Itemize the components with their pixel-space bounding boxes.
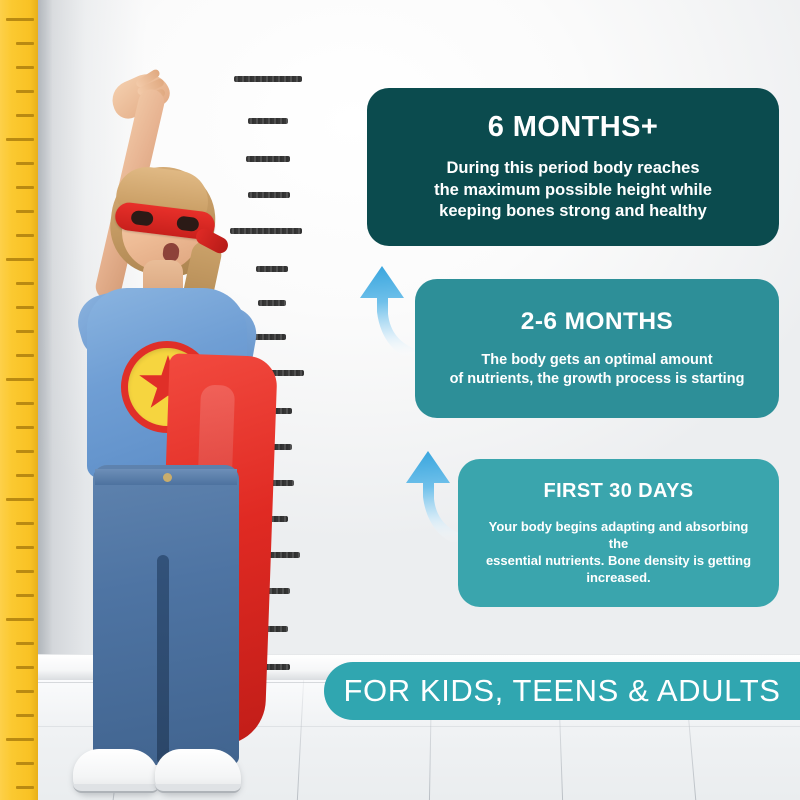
card-body: The body gets an optimal amountof nutrie… (450, 351, 745, 389)
shoe-sole (155, 784, 241, 793)
ruler-minor-tick (16, 714, 34, 717)
card-6-months[interactable]: 6 MONTHS+ During this period body reache… (367, 88, 779, 246)
ruler-minor-tick (16, 90, 34, 93)
ruler-minor-tick (16, 546, 34, 549)
ruler-minor-tick (16, 66, 34, 69)
ruler-minor-tick (16, 786, 34, 789)
card-title: FIRST 30 DAYS (543, 480, 693, 503)
yellow-ruler (0, 0, 38, 800)
ruler-minor-tick (16, 42, 34, 45)
pencil-mark (258, 300, 286, 306)
card-first-30-days[interactable]: FIRST 30 DAYS Your body begins adapting … (458, 459, 779, 607)
shoe-sole (73, 784, 159, 793)
ruler-major-tick (6, 18, 34, 21)
ruler-minor-tick (16, 402, 34, 405)
ruler-major-tick (6, 738, 34, 741)
sneaker-right (155, 749, 241, 793)
ruler-minor-tick (16, 210, 34, 213)
ruler-minor-tick (16, 762, 34, 765)
audience-banner[interactable]: FOR KIDS, TEENS & ADULTS (324, 662, 800, 720)
curved-up-arrow-icon (330, 252, 426, 364)
floor-plank-line (297, 680, 304, 800)
ruler-minor-tick (16, 690, 34, 693)
ruler-minor-tick (16, 642, 34, 645)
ruler-major-tick (6, 378, 34, 381)
ruler-minor-tick (16, 354, 34, 357)
pencil-mark (256, 266, 288, 272)
ruler-minor-tick (16, 594, 34, 597)
ruler-minor-tick (16, 450, 34, 453)
jeans-leg-gap (157, 555, 169, 765)
ruler-minor-tick (16, 234, 34, 237)
ruler-minor-tick (16, 522, 34, 525)
jeans-button (163, 473, 172, 482)
infographic-canvas: 6 MONTHS+ During this period body reache… (0, 0, 800, 800)
ruler-major-tick (6, 258, 34, 261)
sneaker-left (73, 749, 159, 793)
ruler-minor-tick (16, 426, 34, 429)
card-title: 2-6 MONTHS (521, 308, 673, 336)
ruler-minor-tick (16, 666, 34, 669)
ruler-major-tick (6, 618, 34, 621)
ruler-minor-tick (16, 306, 34, 309)
ruler-major-tick (6, 498, 34, 501)
card-body: Your body begins adapting and absorbing … (480, 518, 757, 587)
ruler-minor-tick (16, 330, 34, 333)
ruler-minor-tick (16, 282, 34, 285)
mask-eye-hole (176, 216, 200, 233)
ruler-minor-tick (16, 186, 34, 189)
ruler-major-tick (6, 138, 34, 141)
ruler-minor-tick (16, 570, 34, 573)
ruler-minor-tick (16, 114, 34, 117)
ruler-minor-tick (16, 162, 34, 165)
card-body: During this period body reachesthe maxim… (434, 158, 712, 223)
mask-eye-hole (130, 210, 154, 227)
ruler-minor-tick (16, 474, 34, 477)
card-title: 6 MONTHS+ (488, 111, 658, 144)
card-2-6-months[interactable]: 2-6 MONTHS The body gets an optimal amou… (415, 279, 779, 418)
child-figure (45, 55, 260, 755)
banner-text: FOR KIDS, TEENS & ADULTS (343, 673, 780, 709)
